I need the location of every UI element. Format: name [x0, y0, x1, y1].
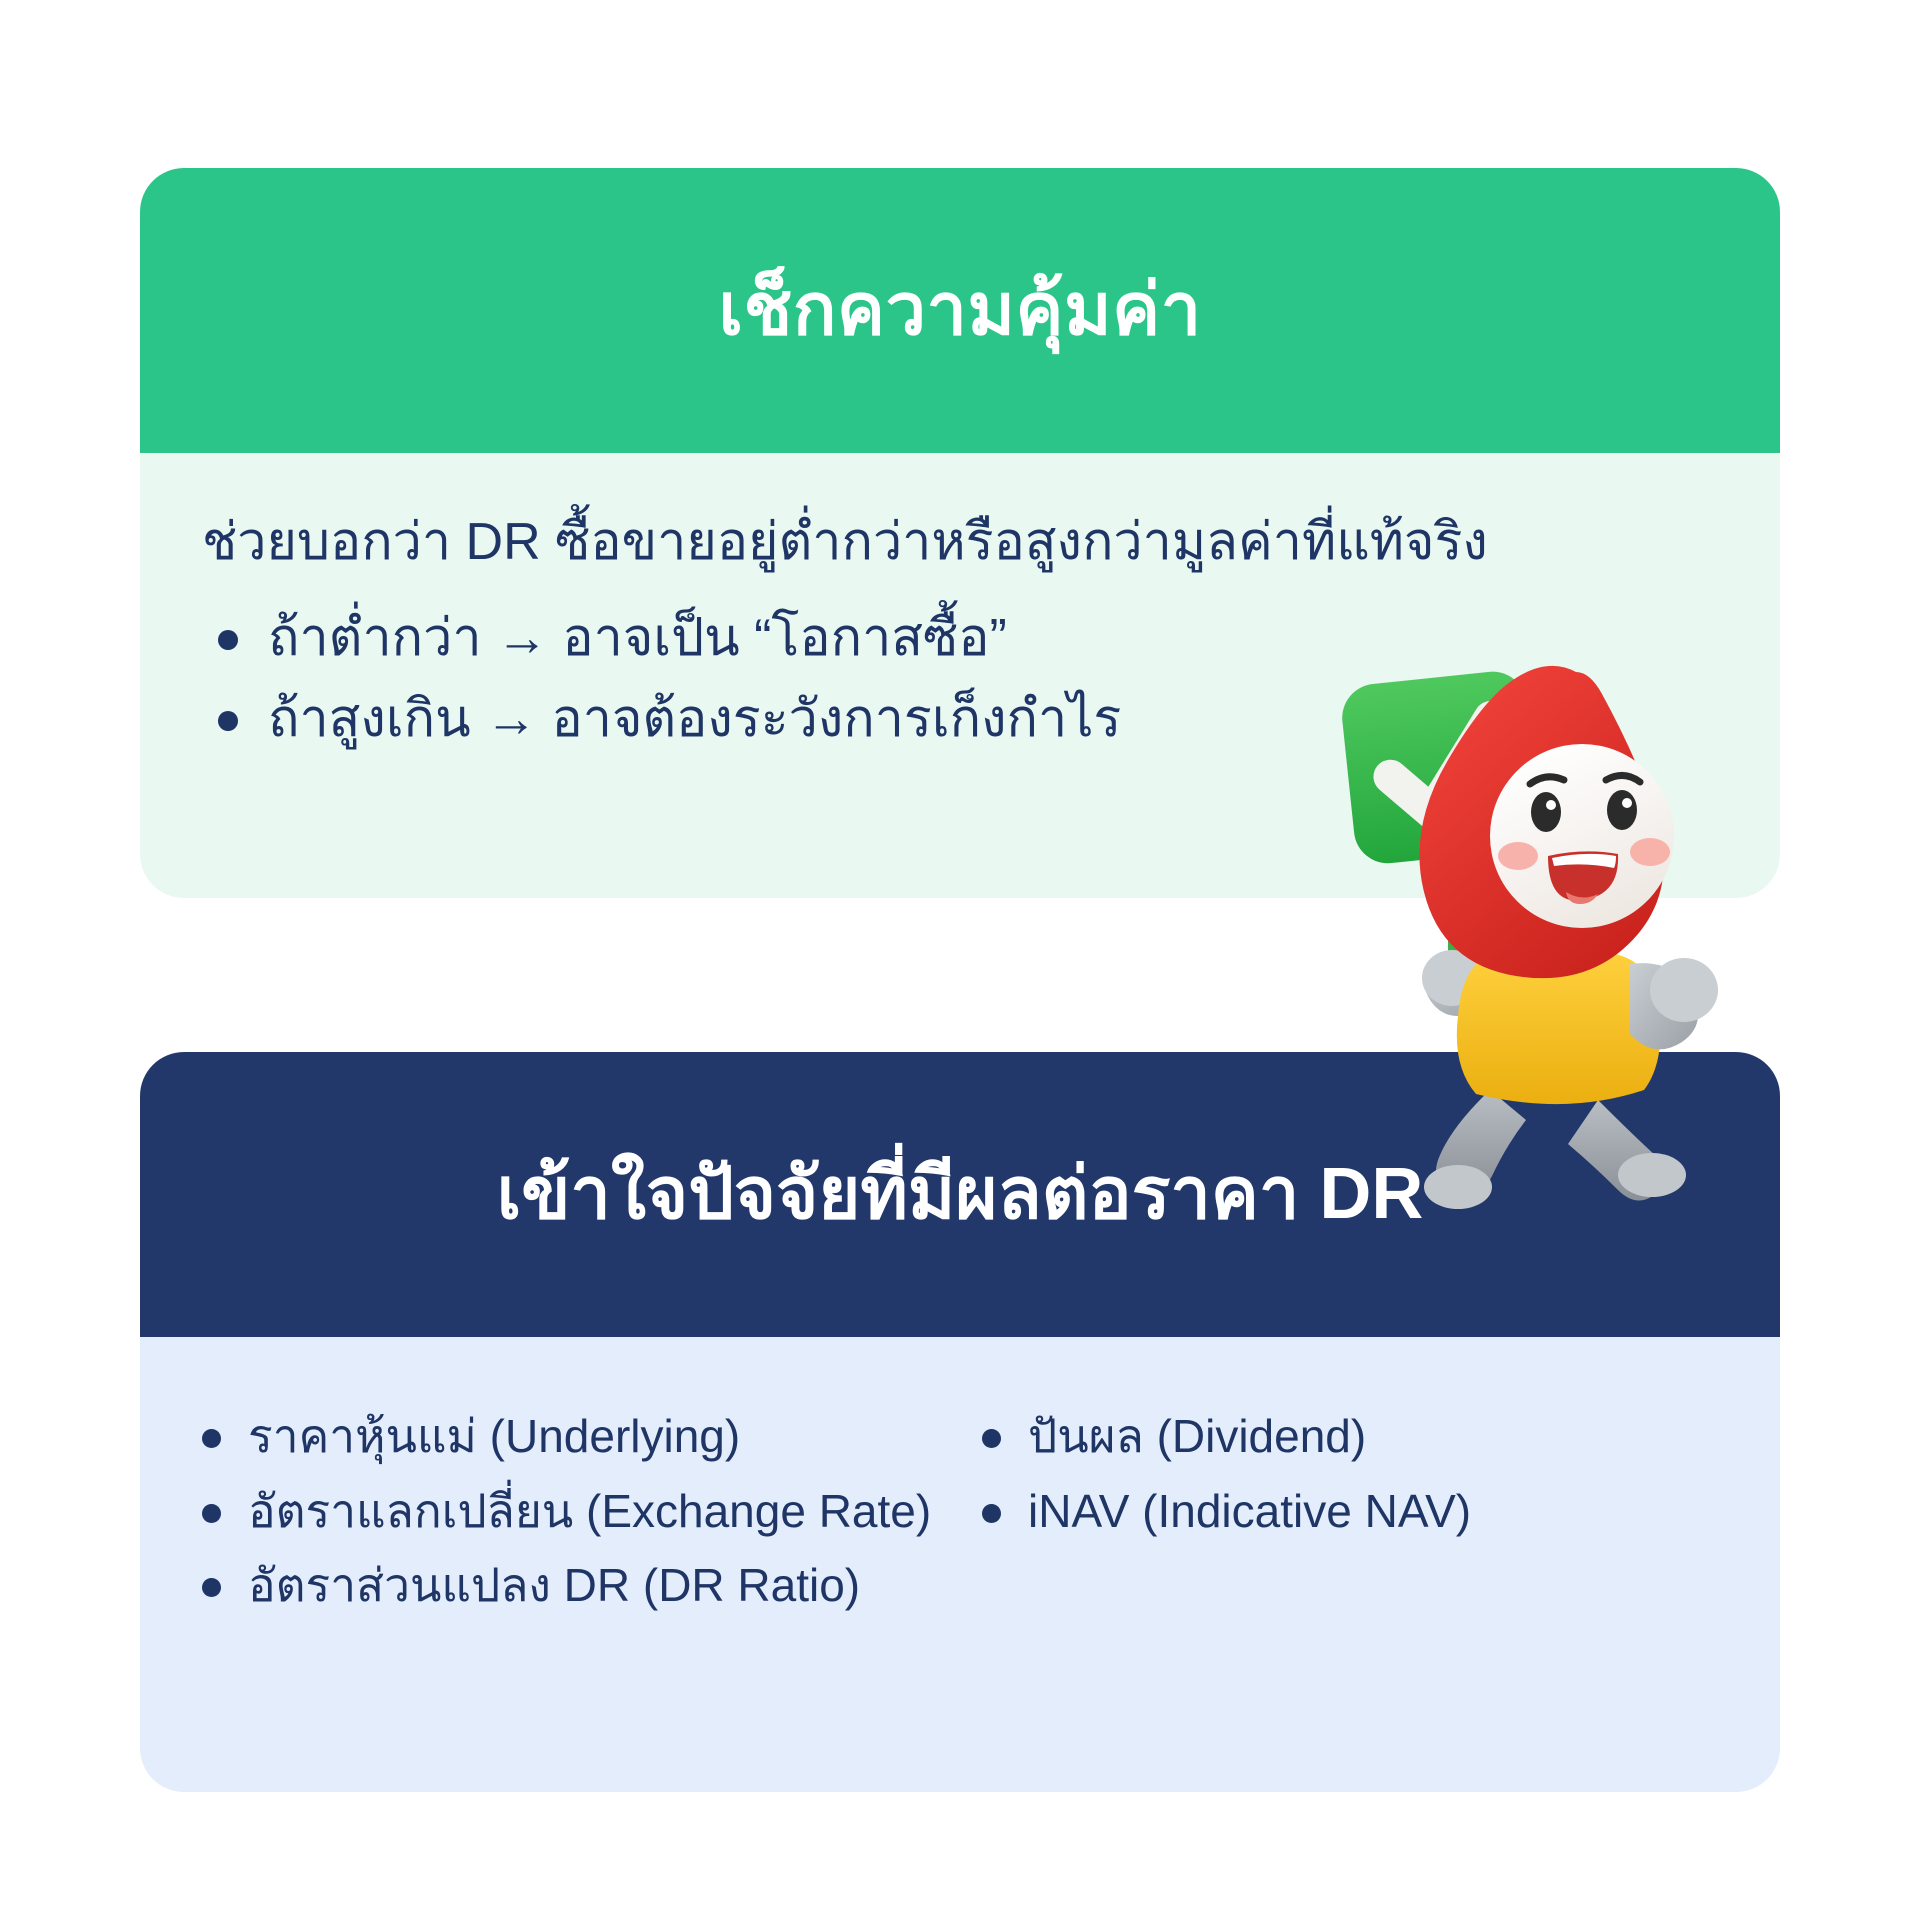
- list-item: ถ้าสูงเกิน → อาจต้องระวังการเก็งกำไร: [202, 679, 1718, 760]
- list-item: ปันผล (Dividend): [970, 1399, 1740, 1474]
- mascot-left-arm: [1425, 956, 1510, 1016]
- bullet-dot-icon: [202, 1578, 221, 1597]
- list-item: อัตราแลกเปลี่ยน (Exchange Rate): [190, 1474, 960, 1549]
- value-check-lead-text: ช่วยบอกว่า DR ซื้อขายอยู่ต่ำกว่าหรือสูงก…: [202, 511, 1718, 574]
- price-factors-card-header: เข้าใจปัจจัยที่มีผลต่อราคา DR: [140, 1052, 1780, 1337]
- bullet-dot-icon: [982, 1429, 1001, 1448]
- factor-underlying: ราคาหุ้นแม่ (Underlying): [248, 1410, 740, 1462]
- factor-exchange-rate: อัตราแลกเปลี่ยน (Exchange Rate): [248, 1485, 931, 1537]
- factor-dividend: ปันผล (Dividend): [1028, 1410, 1366, 1462]
- infographic-canvas: เช็กความคุ้มค่า ช่วยบอกว่า DR ซื้อขายอยู…: [0, 0, 1920, 1920]
- value-check-bullet-list: ถ้าต่ำกว่า → อาจเป็น “โอกาสซื้อ” ถ้าสูงเ…: [202, 598, 1718, 759]
- list-item: ราคาหุ้นแม่ (Underlying): [190, 1399, 960, 1474]
- factor-dr-ratio: อัตราส่วนแปลง DR (DR Ratio): [248, 1559, 860, 1611]
- value-check-card: เช็กความคุ้มค่า ช่วยบอกว่า DR ซื้อขายอยู…: [140, 168, 1780, 898]
- price-factors-card-body: ราคาหุ้นแม่ (Underlying) อัตราแลกเปลี่ยน…: [140, 1337, 1780, 1792]
- bullet-dot-icon: [982, 1504, 1001, 1523]
- price-factors-left-list: ราคาหุ้นแม่ (Underlying) อัตราแลกเปลี่ยน…: [190, 1399, 960, 1623]
- price-factors-title: เข้าใจปัจจัยที่มีผลต่อราคา DR: [497, 1157, 1424, 1233]
- price-factors-right-column: ปันผล (Dividend) iNAV (Indicative NAV): [960, 1399, 1740, 1752]
- price-factors-left-column: ราคาหุ้นแม่ (Underlying) อัตราแลกเปลี่ยน…: [164, 1399, 960, 1752]
- list-item: อัตราส่วนแปลง DR (DR Ratio): [190, 1548, 960, 1623]
- bullet-dot-icon: [218, 711, 238, 731]
- price-factors-right-list: ปันผล (Dividend) iNAV (Indicative NAV): [970, 1399, 1740, 1548]
- list-item: iNAV (Indicative NAV): [970, 1474, 1740, 1549]
- value-check-bullet-1: ถ้าต่ำกว่า → อาจเป็น “โอกาสซื้อ”: [268, 609, 1007, 667]
- bullet-dot-icon: [218, 630, 238, 650]
- value-check-card-body: ช่วยบอกว่า DR ซื้อขายอยู่ต่ำกว่าหรือสูงก…: [140, 453, 1780, 898]
- value-check-bullet-2: ถ้าสูงเกิน → อาจต้องระวังการเก็งกำไร: [268, 690, 1121, 748]
- list-item: ถ้าต่ำกว่า → อาจเป็น “โอกาสซื้อ”: [202, 598, 1718, 679]
- bullet-dot-icon: [202, 1504, 221, 1523]
- factor-inav: iNAV (Indicative NAV): [1028, 1485, 1471, 1537]
- value-check-card-header: เช็กความคุ้มค่า: [140, 168, 1780, 453]
- bullet-dot-icon: [202, 1429, 221, 1448]
- value-check-title: เช็กความคุ้มค่า: [718, 273, 1201, 349]
- mascot-right-arm: [1630, 963, 1698, 1049]
- price-factors-card: เข้าใจปัจจัยที่มีผลต่อราคา DR ราคาหุ้นแม…: [140, 1052, 1780, 1792]
